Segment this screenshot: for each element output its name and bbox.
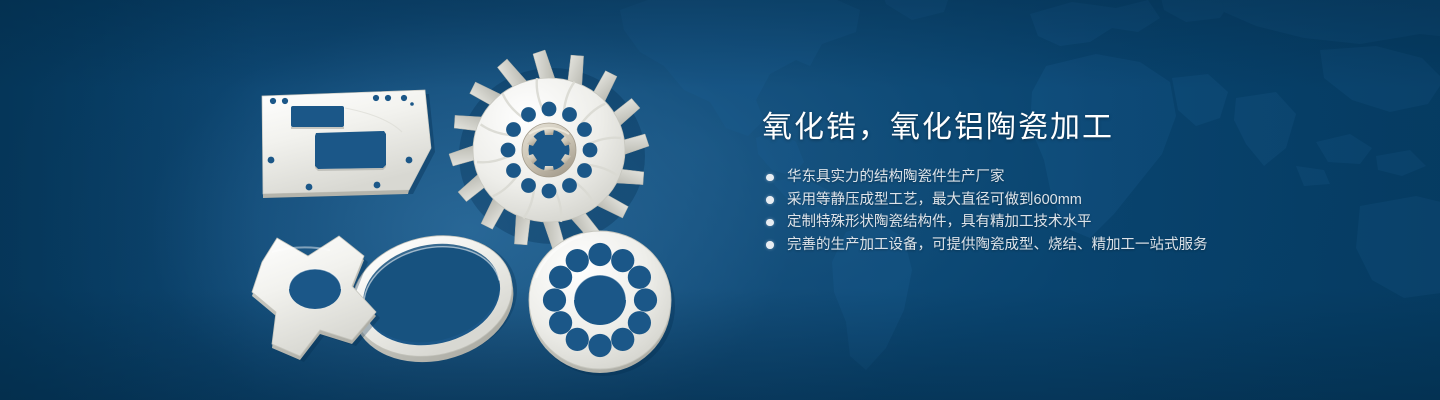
feature-text: 华东具实力的结构陶瓷件生产厂家 xyxy=(787,169,1005,185)
list-item: 定制特殊形状陶瓷结构件，具有精加工技术水平 xyxy=(766,211,1322,234)
feature-list: 华东具实力的结构陶瓷件生产厂家 采用等静压成型工艺，最大直径可做到600mm 定… xyxy=(762,166,1322,256)
thin-ring xyxy=(340,220,530,377)
bullet-icon xyxy=(766,174,774,182)
feature-text: 完善的生产加工设备，可提供陶瓷成型、烧结、精加工一站式服务 xyxy=(787,237,1208,253)
ceramic-products-image xyxy=(0,0,740,400)
feature-text: 采用等静压成型工艺，最大直径可做到600mm xyxy=(787,192,1082,208)
list-item: 完善的生产加工设备，可提供陶瓷成型、烧结、精加工一站式服务 xyxy=(766,234,1322,257)
banner-text-block: 氧化锆，氧化铝陶瓷加工 华东具实力的结构陶瓷件生产厂家 采用等静压成型工艺，最大… xyxy=(762,108,1322,256)
cross-lobe-plate xyxy=(252,236,380,362)
list-item: 采用等静压成型工艺，最大直径可做到600mm xyxy=(766,189,1322,212)
list-item: 华东具实力的结构陶瓷件生产厂家 xyxy=(766,166,1322,189)
bladed-impeller-disc xyxy=(449,50,649,250)
ceramic-products-banner: 氧化锆，氧化铝陶瓷加工 华东具实力的结构陶瓷件生产厂家 采用等静压成型工艺，最大… xyxy=(0,0,1440,400)
flat-mounting-plate xyxy=(262,90,435,198)
bullet-icon xyxy=(766,241,774,249)
bullet-icon xyxy=(766,196,774,204)
feature-text: 定制特殊形状陶瓷结构件，具有精加工技术水平 xyxy=(787,214,1092,230)
page-title: 氧化锆，氧化铝陶瓷加工 xyxy=(762,108,1322,148)
bullet-icon xyxy=(766,219,774,227)
twelve-hole-disc xyxy=(529,231,675,376)
